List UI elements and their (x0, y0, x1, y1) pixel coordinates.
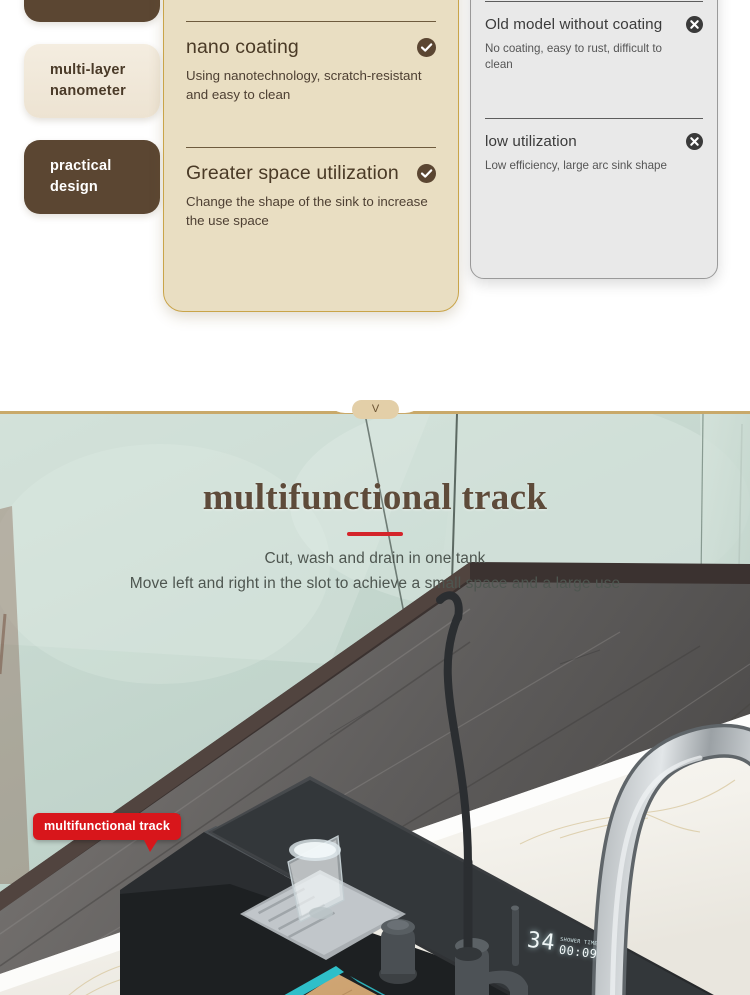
new-feature-desc: Using nanotechnology, scratch-resistant … (186, 67, 436, 105)
hero-text-block: multifunctional track Cut, wash and drai… (0, 476, 750, 593)
old-feature-title: Old model without coating (485, 16, 662, 33)
comparison-tab-list: multi-layer nanometer practical design (24, 0, 160, 236)
hero-subtitle-2: Move left and right in the slot to achie… (0, 575, 750, 593)
tab-label-line2: nanometer (50, 81, 160, 102)
check-circle-icon (417, 38, 436, 57)
new-feature-title: Greater space utilization (186, 162, 399, 185)
callout-label: multifunctional track (33, 813, 181, 840)
new-model-card: nano coating Using nanotechnology, scrat… (163, 0, 459, 312)
sidebar-item-practical-design[interactable]: practical design (24, 140, 160, 214)
multifunctional-track-callout: multifunctional track (33, 813, 181, 840)
tab-label-line1: practical (50, 156, 160, 177)
sidebar-item-multilayer-nanometer[interactable]: multi-layer nanometer (24, 44, 160, 118)
old-feature-row: low utilization Low efficiency, large ar… (485, 119, 703, 174)
expand-chevron-button[interactable]: V (352, 400, 399, 419)
tab-label-line2: design (50, 177, 160, 198)
new-feature-row: Greater space utilization Change the sha… (186, 148, 436, 231)
callout-tail (143, 838, 159, 852)
hero-image-section: multifunctional track Cut, wash and drai… (0, 411, 750, 995)
hero-subtitle-1: Cut, wash and drain in one tank (0, 550, 750, 568)
old-feature-desc: No coating, easy to rust, difficult to c… (485, 41, 681, 74)
tab-label-line1: multi-layer (50, 60, 160, 81)
new-feature-row: nano coating Using nanotechnology, scrat… (186, 22, 436, 105)
display-temperature: 34 (526, 930, 557, 955)
new-feature-desc: Change the shape of the sink to increase… (186, 193, 436, 231)
chevron-down-icon: V (372, 404, 379, 415)
x-circle-icon (686, 16, 703, 33)
sidebar-item-partial-top[interactable] (24, 0, 160, 22)
page-root: multi-layer nanometer practical design O… (0, 0, 750, 995)
check-circle-icon (417, 164, 436, 183)
soap-dispenser (379, 919, 417, 984)
hero-accent-rule (347, 532, 403, 536)
new-feature-title: nano coating (186, 36, 299, 59)
old-model-card: Old model without coating No coating, ea… (470, 0, 718, 279)
comparison-section: multi-layer nanometer practical design O… (0, 0, 750, 411)
x-circle-icon (686, 133, 703, 150)
old-feature-desc: Low efficiency, large arc sink shape (485, 158, 681, 174)
hero-title: multifunctional track (0, 476, 750, 519)
old-feature-title: low utilization (485, 133, 577, 150)
old-feature-row: Old model without coating No coating, ea… (485, 2, 703, 74)
